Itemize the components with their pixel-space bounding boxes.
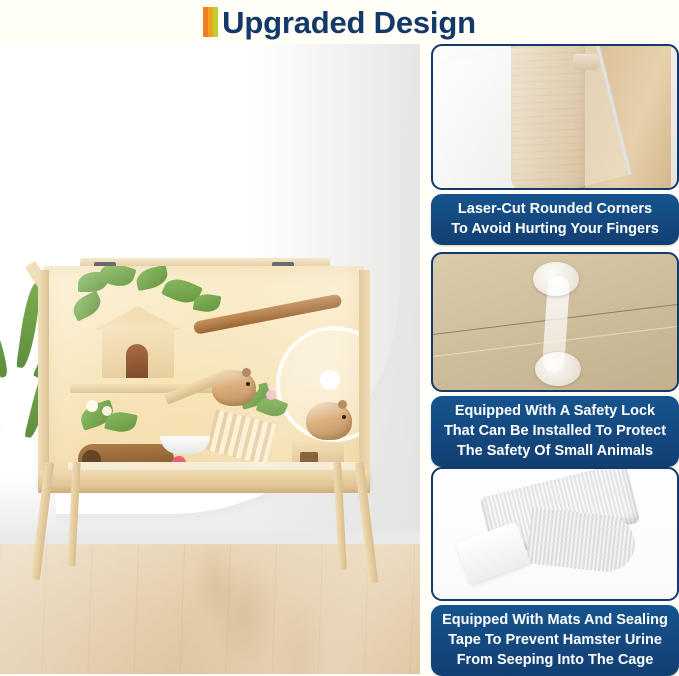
page-title: Upgraded Design xyxy=(222,7,476,38)
flower xyxy=(266,390,276,400)
hamster-eye xyxy=(246,382,250,386)
cage-post-left xyxy=(38,270,49,484)
hamster-ear xyxy=(338,400,347,409)
hamster xyxy=(306,402,352,440)
hamster-ear xyxy=(242,368,251,377)
flower xyxy=(86,400,98,412)
caption-line: From Seeping Into The Cage xyxy=(437,650,673,670)
wooden-ladder xyxy=(206,409,276,465)
safety-lock-photo xyxy=(431,252,679,392)
infographic-page: Upgraded Design xyxy=(0,0,679,674)
cage-base-rail-lower xyxy=(38,484,370,493)
title-accent-bars xyxy=(203,7,218,37)
exercise-wheel-hub xyxy=(320,370,340,390)
safety-lock-top-clip xyxy=(533,262,579,296)
hamster xyxy=(212,370,256,406)
feature-card-column: Laser-Cut Rounded Corners To Avoid Hurti… xyxy=(431,44,679,674)
feature-card-sealing-tape: Equipped With Mats And Sealing Tape To P… xyxy=(431,467,679,676)
wooden-house-door xyxy=(126,344,148,378)
sealing-tape-end xyxy=(455,521,530,584)
sealing-tape-photo xyxy=(431,467,679,601)
feature-card-laser-cut-corners: Laser-Cut Rounded Corners To Avoid Hurti… xyxy=(431,44,679,245)
caption-line: That Can Be Installed To Protect xyxy=(437,421,673,441)
hamster-eye xyxy=(342,415,346,419)
accent-bar-lime xyxy=(213,7,218,37)
caption-line: Laser-Cut Rounded Corners xyxy=(437,199,673,219)
caption-line: Tape To Prevent Hamster Urine xyxy=(437,630,673,650)
feature-caption: Equipped With A Safety Lock That Can Be … xyxy=(431,396,679,467)
acrylic-panel xyxy=(431,44,632,190)
plant-leaf xyxy=(0,299,13,379)
feature-caption: Laser-Cut Rounded Corners To Avoid Hurti… xyxy=(431,194,679,245)
cage-interior xyxy=(44,266,364,478)
caption-line: Equipped With Mats And Sealing xyxy=(437,610,673,630)
flower xyxy=(102,406,112,416)
feature-caption: Equipped With Mats And Sealing Tape To P… xyxy=(431,605,679,676)
laser-cut-corner-photo xyxy=(431,44,679,190)
caption-line: To Avoid Hurting Your Fingers xyxy=(437,219,673,239)
floor-sheen xyxy=(0,544,420,674)
caption-line: The Safety Of Small Animals xyxy=(437,441,673,461)
safety-lock-bottom-clip xyxy=(535,352,581,386)
feature-card-safety-lock: Equipped With A Safety Lock That Can Be … xyxy=(431,252,679,467)
cage-post-right xyxy=(359,270,370,484)
page-title-bar: Upgraded Design xyxy=(0,0,679,44)
caption-line: Equipped With A Safety Lock xyxy=(437,401,673,421)
hero-product-photo xyxy=(0,44,420,674)
